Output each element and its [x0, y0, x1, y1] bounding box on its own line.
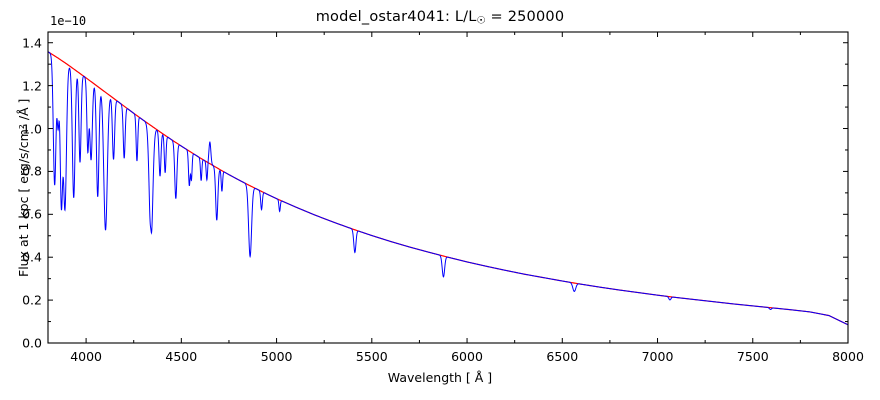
- spectrum-figure: model_ostar4041: L/L☉ = 250000 1e−10 Flu…: [0, 0, 880, 400]
- y-tick-label: 1.4: [22, 35, 42, 50]
- y-tick-label: 1.0: [22, 121, 42, 136]
- x-tick-label: 4500: [165, 349, 197, 364]
- x-tick-label: 5000: [261, 349, 293, 364]
- x-axis-label: Wavelength [ Å ]: [0, 370, 880, 385]
- x-tick-label: 7000: [642, 349, 674, 364]
- y-tick-label: 1.2: [22, 78, 42, 93]
- y-tick-label: 0.2: [22, 293, 42, 308]
- axes-frame: [48, 32, 848, 343]
- plot-canvas: [0, 0, 880, 400]
- x-tick-label: 7500: [737, 349, 769, 364]
- continuum-curve: [48, 52, 848, 325]
- y-tick-label: 0.6: [22, 207, 42, 222]
- y-tick-label: 0.4: [22, 250, 42, 265]
- x-tick-label: 8000: [832, 349, 864, 364]
- y-tick-label: 0.8: [22, 164, 42, 179]
- x-tick-label: 6500: [546, 349, 578, 364]
- x-tick-label: 5500: [356, 349, 388, 364]
- spectrum-curve: [48, 52, 848, 325]
- y-tick-label: 0.0: [22, 336, 42, 351]
- x-tick-label: 6000: [451, 349, 483, 364]
- x-tick-label: 4000: [70, 349, 102, 364]
